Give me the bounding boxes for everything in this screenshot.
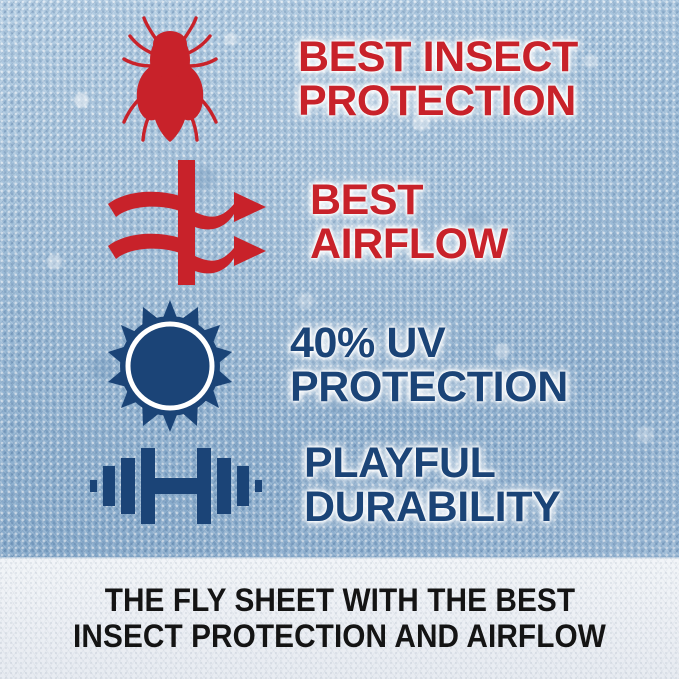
sun-icon [104,298,236,434]
feature-label-uv-protection: 40% UV PROTECTION [290,322,568,410]
feature-list: BEST INSECT PROTECTION BEST AIRFLOW [0,0,679,557]
fly-icon [118,14,222,146]
feature-row-airflow: BEST AIRFLOW [100,160,508,285]
feature-label-durability: PLAYFUL DURABILITY [304,442,560,530]
dumbbell-icon [88,440,264,532]
airflow-arrows-icon [100,160,272,285]
caption-band-top-edge [0,557,679,559]
feature-row-durability: PLAYFUL DURABILITY [88,440,560,532]
caption-line-1: THE FLY SHEET WITH THE BEST [104,582,574,618]
product-feature-poster: BEST INSECT PROTECTION BEST AIRFLOW [0,0,679,679]
feature-label-insect-protection: BEST INSECT PROTECTION [298,36,578,124]
feature-label-airflow: BEST AIRFLOW [310,179,508,267]
feature-row-insect-protection: BEST INSECT PROTECTION [118,14,578,146]
feature-row-uv-protection: 40% UV PROTECTION [104,298,568,434]
caption-band: THE FLY SHEET WITH THE BEST INSECT PROTE… [0,557,679,679]
caption-line-2: INSECT PROTECTION AND AIRFLOW [73,618,606,654]
